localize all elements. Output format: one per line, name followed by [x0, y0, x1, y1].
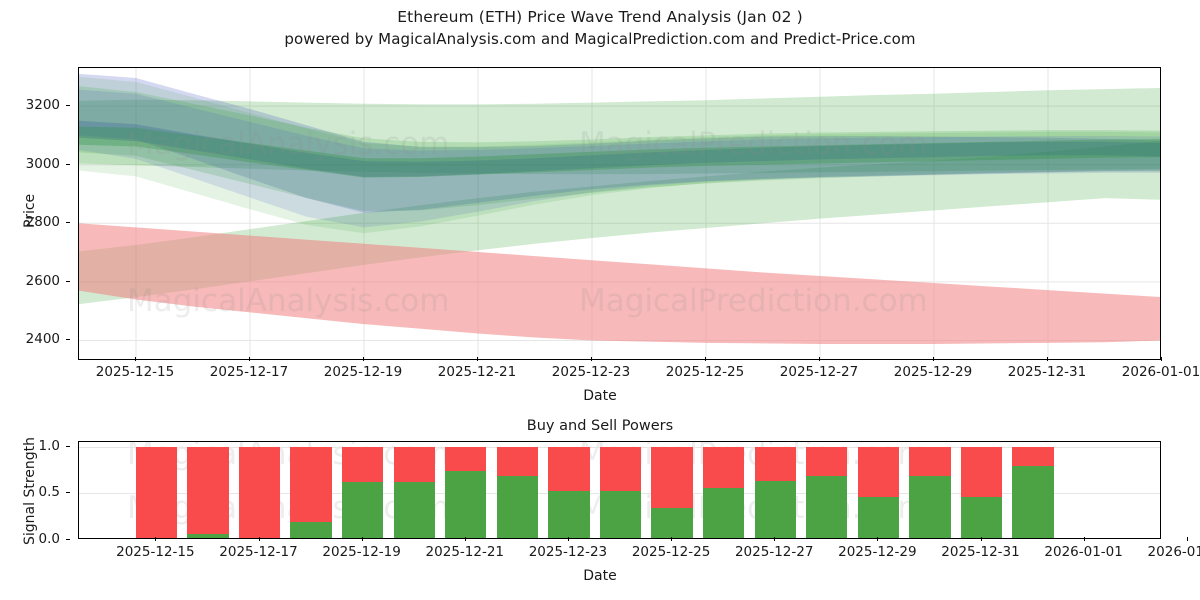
price-tick-label: 3000 [26, 156, 60, 172]
signal-tick-label: 1.0 [39, 438, 60, 454]
buy-power-segment [187, 534, 228, 538]
sell-power-segment [187, 447, 228, 535]
lower-date-tick-label: 2025-12-17 [219, 544, 297, 560]
upper-date-tick-mark [705, 357, 706, 361]
sell-power-segment [548, 447, 589, 492]
bar-column[interactable] [909, 447, 950, 538]
bar-column[interactable] [961, 447, 1002, 538]
bar-column[interactable] [445, 447, 486, 538]
bar-column[interactable] [755, 447, 796, 538]
sell-power-segment [239, 447, 280, 538]
sell-power-segment [445, 447, 486, 471]
lower-date-axis-title: Date [583, 568, 616, 584]
sell-power-segment [806, 447, 847, 477]
sell-power-segment [1012, 447, 1053, 467]
upper-date-tick-label: 2025-12-17 [210, 364, 288, 380]
buy-power-segment [445, 471, 486, 538]
upper-date-tick-mark [591, 357, 592, 361]
bar-column[interactable] [858, 447, 899, 538]
upper-date-tick-label: 2025-12-23 [552, 364, 630, 380]
lower-date-tick-mark [362, 537, 363, 541]
wave-band-red-band-declining [79, 223, 1161, 344]
buy-power-segment [290, 522, 331, 538]
upper-date-tick-label: 2026-01-01 [1122, 364, 1200, 380]
upper-date-tick-mark [1161, 357, 1162, 361]
upper-date-axis-title: Date [583, 388, 616, 404]
upper-date-tick-label: 2025-12-19 [324, 364, 402, 380]
lower-date-axis-labels: 2025-12-152025-12-172025-12-192025-12-21… [78, 541, 1161, 563]
bar-column[interactable] [394, 447, 435, 538]
upper-date-tick-mark [363, 357, 364, 361]
buy-power-segment [548, 491, 589, 538]
price-axis-title: Price [22, 194, 38, 228]
sell-power-segment [755, 447, 796, 482]
signal-tick-label: 0.5 [39, 484, 60, 500]
lower-date-tick-mark [774, 537, 775, 541]
price-tick-label: 3200 [26, 97, 60, 113]
sell-power-segment [394, 447, 435, 482]
signal-tick-mark [66, 539, 70, 540]
price-tick-label: 2600 [26, 273, 60, 289]
buy-power-segment [961, 497, 1002, 538]
buy-power-segment [909, 476, 950, 538]
lower-date-tick-label: 2025-12-23 [529, 544, 607, 560]
signal-strength-axis-title: Signal Strength [22, 437, 38, 545]
price-tick-mark [66, 339, 70, 340]
chart-subtitle: powered by MagicalAnalysis.com and Magic… [0, 30, 1200, 48]
buy-power-segment [1012, 466, 1053, 538]
bar-column[interactable] [548, 447, 589, 538]
upper-date-tick-label: 2025-12-15 [96, 364, 174, 380]
upper-date-tick-mark [1047, 357, 1048, 361]
bar-column[interactable] [1012, 447, 1053, 538]
upper-date-tick-label: 2025-12-21 [438, 364, 516, 380]
sell-power-segment [600, 447, 641, 492]
bar-column[interactable] [497, 447, 538, 538]
lower-date-tick-mark [981, 537, 982, 541]
lower-date-tick-label: 2025-12-19 [322, 544, 400, 560]
buy-power-segment [600, 491, 641, 538]
price-wave-plot-area: MagicalAnalysis.com MagicalPrediction.co… [78, 67, 1161, 360]
signal-tick-label: 0.0 [39, 531, 60, 547]
lower-date-tick-label: 2025-12-21 [426, 544, 504, 560]
bar-column[interactable] [342, 447, 383, 538]
bar-column[interactable] [290, 447, 331, 538]
lower-chart-title: Buy and Sell Powers [0, 418, 1200, 434]
lower-date-tick-mark [1084, 537, 1085, 541]
lower-date-tick-mark [568, 537, 569, 541]
buy-power-segment [755, 481, 796, 538]
sell-power-segment [290, 447, 331, 523]
bar-column[interactable] [806, 447, 847, 538]
sell-power-segment [703, 447, 744, 488]
bar-column[interactable] [239, 447, 280, 538]
lower-date-tick-mark [671, 537, 672, 541]
upper-date-tick-label: 2025-12-29 [894, 364, 972, 380]
chart-title: Ethereum (ETH) Price Wave Trend Analysis… [0, 8, 1200, 26]
sell-power-segment [497, 447, 538, 477]
upper-date-tick-mark [933, 357, 934, 361]
upper-date-tick-mark [477, 357, 478, 361]
price-tick-mark [66, 164, 70, 165]
lower-date-tick-mark [465, 537, 466, 541]
upper-date-tick-mark [819, 357, 820, 361]
bar-column[interactable] [651, 447, 692, 538]
lower-date-tick-label: 2025-12-15 [116, 544, 194, 560]
sell-power-segment [342, 447, 383, 482]
lower-date-tick-mark [155, 537, 156, 541]
lower-date-tick-label: 2025-12-25 [632, 544, 710, 560]
upper-date-tick-mark [135, 357, 136, 361]
lower-date-tick-label: 2025-12-29 [838, 544, 916, 560]
lower-date-tick-label: 2025-12-27 [735, 544, 813, 560]
upper-date-axis-labels: 2025-12-152025-12-172025-12-192025-12-21… [78, 361, 1161, 383]
lower-date-tick-mark [259, 537, 260, 541]
sell-power-segment [651, 447, 692, 509]
bar-column[interactable] [703, 447, 744, 538]
upper-date-tick-label: 2025-12-25 [666, 364, 744, 380]
buy-power-segment [858, 497, 899, 538]
lower-date-tick-mark [1187, 537, 1188, 541]
buy-power-segment [651, 508, 692, 538]
price-tick-mark [66, 105, 70, 106]
chart-figure: Ethereum (ETH) Price Wave Trend Analysis… [0, 0, 1200, 600]
sell-power-segment [136, 447, 177, 538]
signal-tick-mark [66, 446, 70, 447]
buy-power-segment [497, 476, 538, 538]
bar-column[interactable] [600, 447, 641, 538]
signal-tick-mark [66, 492, 70, 493]
price-wave-bands [79, 68, 1161, 360]
sell-power-segment [961, 447, 1002, 497]
lower-date-tick-label: 2026-01-01 [1044, 544, 1122, 560]
lower-date-tick-mark [877, 537, 878, 541]
buy-sell-plot-area: MagicalAnalysis.com MagicalPrediction.co… [78, 441, 1161, 539]
buy-sell-bars [79, 442, 1160, 538]
buy-power-segment [394, 482, 435, 538]
bar-column[interactable] [136, 447, 177, 538]
price-tick-mark [66, 281, 70, 282]
upper-date-tick-label: 2025-12-27 [780, 364, 858, 380]
buy-power-segment [342, 482, 383, 538]
bar-column[interactable] [187, 447, 228, 538]
buy-power-segment [703, 488, 744, 538]
upper-date-tick-label: 2025-12-31 [1008, 364, 1086, 380]
buy-power-segment [806, 476, 847, 538]
price-tick-mark [66, 222, 70, 223]
upper-date-tick-mark [249, 357, 250, 361]
sell-power-segment [858, 447, 899, 497]
price-tick-label: 2400 [26, 331, 60, 347]
lower-date-tick-label: 2025-12-31 [941, 544, 1019, 560]
lower-date-tick-label: 2026-01-03 [1148, 544, 1200, 560]
sell-power-segment [909, 447, 950, 477]
